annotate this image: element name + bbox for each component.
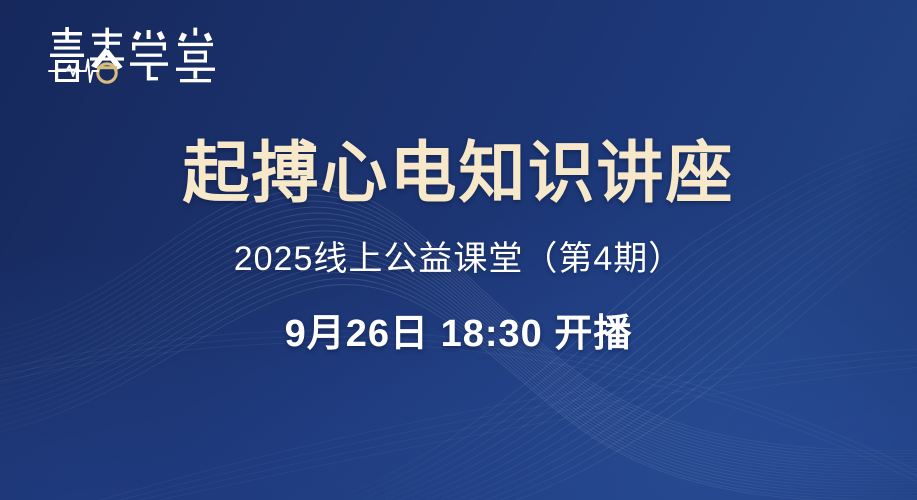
logo-char-xue	[130, 30, 168, 80]
logo-char-qing	[50, 27, 84, 82]
broadcast-datetime: 9月26日 18:30 开播	[0, 302, 917, 357]
subtitle: 2025线上公益课堂（第4期）	[0, 231, 917, 280]
main-title: 起搏心电知识讲座	[0, 138, 917, 209]
brand-logo	[48, 26, 240, 88]
logo-char-tang	[176, 28, 215, 83]
content-block: 起搏心电知识讲座 2025线上公益课堂（第4期） 9月26日 18:30 开播	[0, 138, 917, 357]
lecture-promo-banner: 起搏心电知识讲座 2025线上公益课堂（第4期） 9月26日 18:30 开播	[0, 0, 917, 500]
